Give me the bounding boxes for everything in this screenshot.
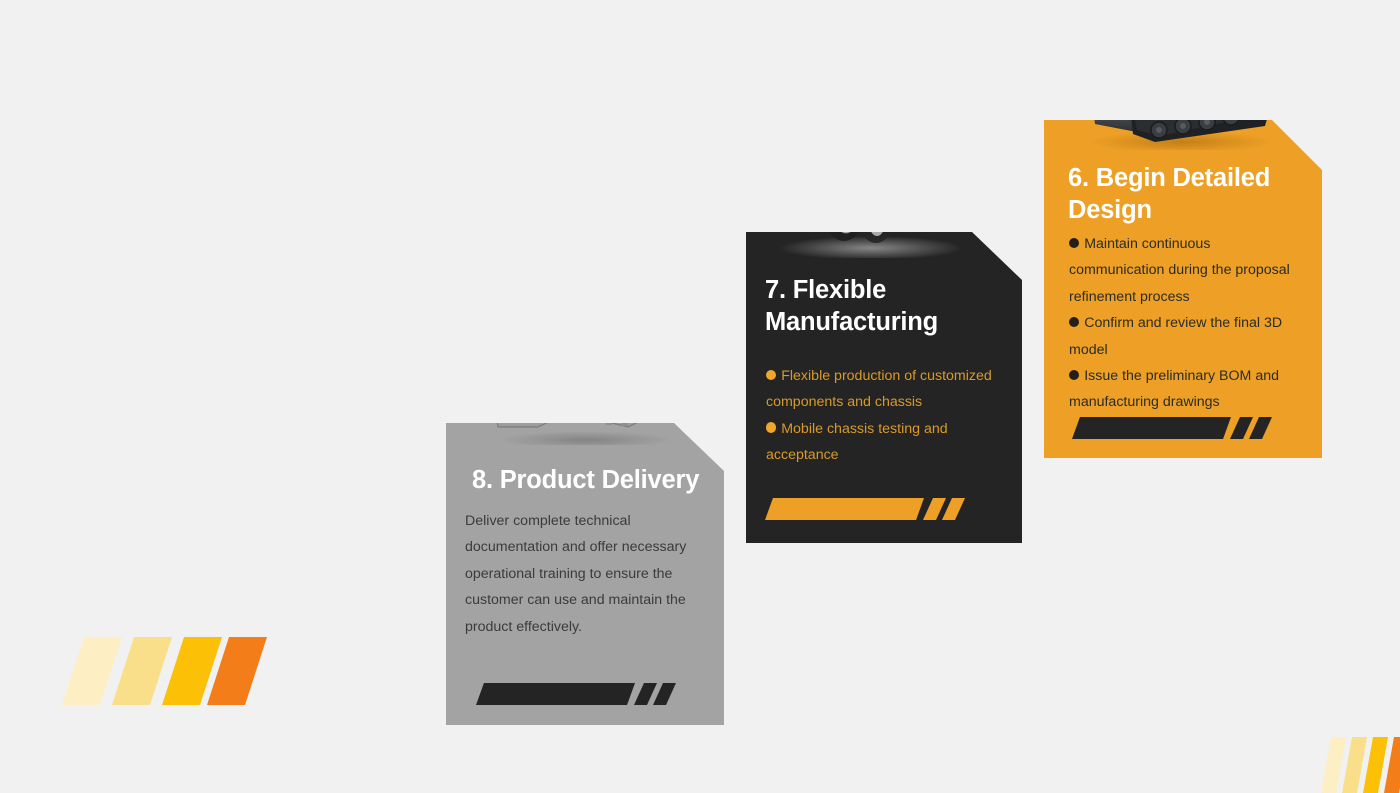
accent-bar: [765, 498, 965, 520]
card-paragraph: Deliver complete technical documentation…: [465, 508, 703, 640]
accent-bar: [476, 683, 676, 705]
card-flexible-manufacturing[interactable]: 7. Flexible Manufacturing Flexible produ…: [746, 232, 1022, 543]
list-item: Flexible production of customized compon…: [766, 363, 1010, 416]
accent-bar: [1072, 417, 1272, 439]
bullet-dot-icon: [766, 370, 776, 380]
card-title: 8. Product Delivery: [472, 464, 716, 496]
bullet-dot-icon: [1069, 370, 1079, 380]
list-item-label: Maintain continuous communication during…: [1069, 236, 1290, 305]
list-item-label: Mobile chassis testing and acceptance: [766, 421, 948, 463]
corner-stripes-bottom-left: [62, 637, 267, 705]
corner-stripes-bottom-right: [1318, 737, 1400, 793]
list-item-label: Issue the preliminary BOM and manufactur…: [1069, 368, 1279, 410]
card-bullet-list: Flexible production of customized compon…: [766, 363, 1010, 469]
card-product-delivery[interactable]: 8. Product Delivery Deliver complete tec…: [446, 423, 724, 725]
bullet-dot-icon: [1069, 238, 1079, 248]
bullet-dot-icon: [1069, 317, 1079, 327]
slide-canvas: 8. Product Delivery Deliver complete tec…: [0, 0, 1400, 788]
list-item: Mobile chassis testing and acceptance: [766, 416, 1010, 469]
bullet-dot-icon: [766, 422, 776, 432]
card-bullet-list: Maintain continuous communication during…: [1069, 231, 1309, 416]
list-item: Maintain continuous communication during…: [1069, 231, 1309, 310]
card-title: 7. Flexible Manufacturing: [765, 274, 1001, 338]
list-item-label: Confirm and review the final 3D model: [1069, 315, 1282, 357]
card-begin-detailed-design[interactable]: 6. Begin Detailed Design Maintain contin…: [1044, 120, 1322, 458]
list-item-label: Flexible production of customized compon…: [766, 368, 992, 410]
list-item: Confirm and review the final 3D model: [1069, 310, 1309, 363]
list-item: Issue the preliminary BOM and manufactur…: [1069, 363, 1309, 416]
card-title: 6. Begin Detailed Design: [1068, 162, 1300, 226]
